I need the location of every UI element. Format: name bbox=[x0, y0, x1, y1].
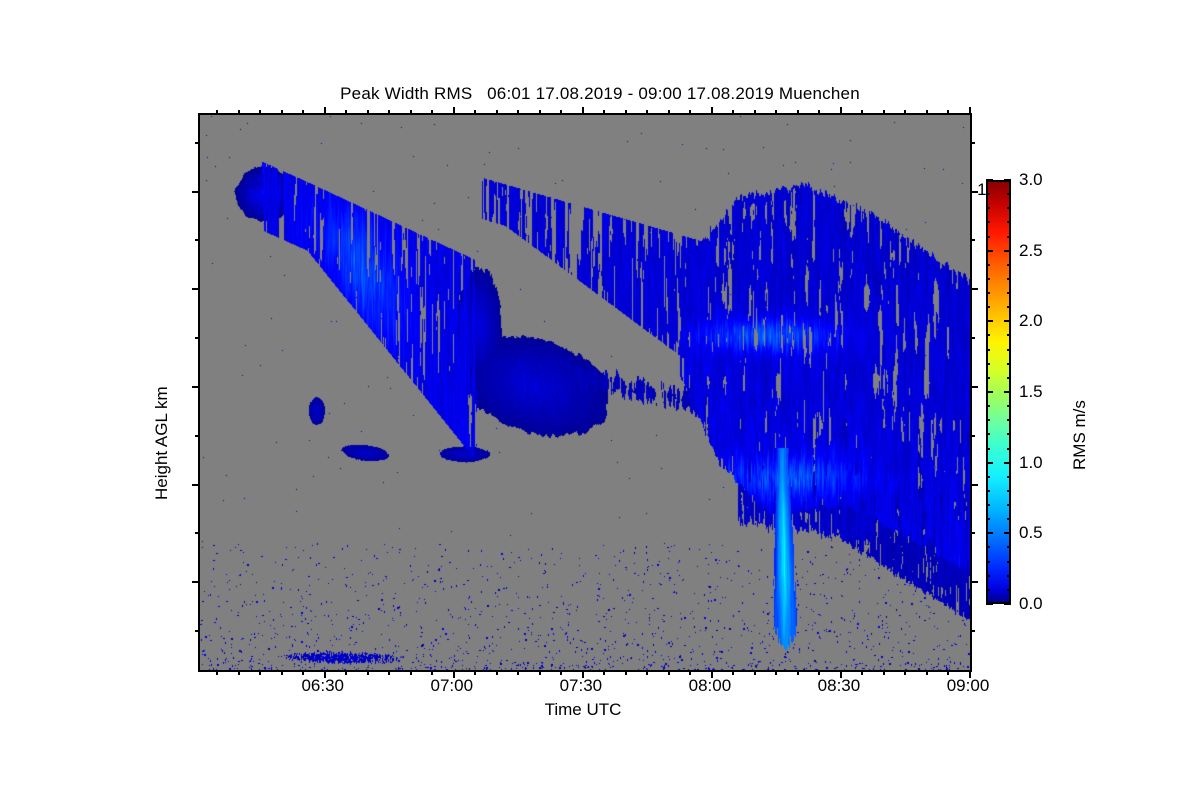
colorbar-tick bbox=[986, 462, 993, 464]
colorbar-tick bbox=[1007, 589, 1011, 591]
colorbar-tick bbox=[1007, 490, 1011, 492]
colorbar-tick bbox=[986, 405, 990, 407]
axis-tick bbox=[388, 110, 390, 115]
axis-tick bbox=[195, 435, 200, 437]
axis-tick bbox=[603, 670, 605, 675]
colorbar-tick-label: 1.5 bbox=[1019, 382, 1043, 402]
axis-tick bbox=[668, 670, 670, 675]
axis-tick bbox=[775, 670, 777, 675]
colorbar-tick bbox=[1007, 476, 1011, 478]
colorbar-tick bbox=[1007, 264, 1011, 266]
axis-tick bbox=[302, 670, 304, 675]
x-tick-label: 08:00 bbox=[689, 676, 732, 696]
colorbar-tick bbox=[1004, 462, 1011, 464]
colorbar-tick bbox=[1007, 518, 1011, 520]
colorbar-tick bbox=[986, 419, 990, 421]
page-title: Peak Width RMS 06:01 17.08.2019 - 09:00 … bbox=[0, 84, 1200, 104]
axis-tick bbox=[646, 110, 648, 115]
axis-tick bbox=[195, 630, 200, 632]
heatmap-data-canvas bbox=[200, 115, 970, 670]
colorbar-tick bbox=[986, 377, 990, 379]
colorbar-tick bbox=[986, 391, 993, 393]
colorbar-tick bbox=[1007, 575, 1011, 577]
axis-tick bbox=[192, 581, 200, 583]
x-tick-label: 08:30 bbox=[818, 676, 861, 696]
x-tick-label: 09:00 bbox=[947, 676, 990, 696]
axis-tick bbox=[367, 110, 369, 115]
axis-tick bbox=[970, 435, 975, 437]
colorbar-tick bbox=[1007, 448, 1011, 450]
axis-tick bbox=[539, 670, 541, 675]
colorbar-tick-label: 2.5 bbox=[1019, 241, 1043, 261]
axis-tick bbox=[302, 110, 304, 115]
colorbar-tick bbox=[1004, 250, 1011, 252]
colorbar-tick bbox=[986, 546, 990, 548]
axis-tick bbox=[797, 670, 799, 675]
axis-tick bbox=[560, 670, 562, 675]
colorbar-tick bbox=[986, 490, 990, 492]
axis-tick bbox=[625, 670, 627, 675]
colorbar-tick bbox=[986, 589, 990, 591]
colorbar-tick bbox=[986, 179, 993, 181]
axis-tick bbox=[281, 670, 283, 675]
colorbar-tick bbox=[1007, 405, 1011, 407]
colorbar-tick bbox=[986, 504, 990, 506]
axis-tick bbox=[926, 670, 928, 675]
colorbar-tick bbox=[986, 363, 990, 365]
colorbar-tick bbox=[986, 250, 993, 252]
axis-tick bbox=[216, 110, 218, 115]
axis-tick bbox=[883, 670, 885, 675]
axis-tick bbox=[818, 670, 820, 675]
colorbar-tick bbox=[986, 603, 993, 605]
colorbar-tick bbox=[986, 292, 990, 294]
axis-tick bbox=[603, 110, 605, 115]
axis-tick bbox=[238, 670, 240, 675]
colorbar-tick-label: 0.5 bbox=[1019, 523, 1043, 543]
colorbar-tick bbox=[986, 221, 990, 223]
axis-tick bbox=[732, 110, 734, 115]
axis-tick bbox=[192, 386, 200, 388]
axis-tick bbox=[970, 337, 975, 339]
x-tick-label: 07:30 bbox=[560, 676, 603, 696]
colorbar-tick bbox=[1007, 419, 1011, 421]
axis-tick bbox=[797, 110, 799, 115]
colorbar-tick bbox=[1004, 179, 1011, 181]
colorbar-tick bbox=[1007, 377, 1011, 379]
colorbar-tick-label: 2.0 bbox=[1019, 311, 1043, 331]
axis-tick bbox=[195, 239, 200, 241]
colorbar-tick bbox=[1004, 603, 1011, 605]
colorbar bbox=[986, 180, 1011, 604]
axis-tick bbox=[195, 142, 200, 144]
axis-tick bbox=[861, 670, 863, 675]
axis-tick bbox=[947, 670, 949, 675]
axis-tick bbox=[496, 110, 498, 115]
axis-tick bbox=[281, 110, 283, 115]
colorbar-tick bbox=[1007, 306, 1011, 308]
axis-tick bbox=[970, 142, 975, 144]
colorbar-tick bbox=[986, 320, 993, 322]
colorbar-tick bbox=[986, 349, 990, 351]
axis-tick bbox=[474, 110, 476, 115]
axis-tick bbox=[732, 670, 734, 675]
axis-tick bbox=[238, 110, 240, 115]
colorbar-tick bbox=[1004, 532, 1011, 534]
colorbar-tick bbox=[986, 264, 990, 266]
axis-tick bbox=[970, 581, 978, 583]
axis-tick bbox=[431, 670, 433, 675]
x-tick-label: 07:00 bbox=[431, 676, 474, 696]
colorbar-tick bbox=[1007, 221, 1011, 223]
axis-tick bbox=[625, 110, 627, 115]
axis-tick bbox=[711, 107, 713, 115]
axis-tick bbox=[345, 110, 347, 115]
axis-tick bbox=[904, 110, 906, 115]
axis-tick bbox=[970, 484, 978, 486]
colorbar-tick bbox=[1007, 363, 1011, 365]
colorbar-tick bbox=[986, 207, 990, 209]
axis-tick bbox=[969, 107, 971, 115]
axis-tick bbox=[410, 110, 412, 115]
colorbar-tick bbox=[986, 334, 990, 336]
plot-figure: Peak Width RMS 06:01 17.08.2019 - 09:00 … bbox=[0, 0, 1200, 800]
axis-tick bbox=[970, 532, 975, 534]
axis-tick bbox=[367, 670, 369, 675]
colorbar-tick bbox=[1007, 504, 1011, 506]
axis-tick bbox=[947, 110, 949, 115]
colorbar-tick bbox=[986, 448, 990, 450]
axis-tick bbox=[689, 670, 691, 675]
axis-tick bbox=[410, 670, 412, 675]
colorbar-tick-label: 3.0 bbox=[1019, 170, 1043, 190]
axis-tick bbox=[689, 110, 691, 115]
axis-tick bbox=[539, 110, 541, 115]
x-axis-label: Time UTC bbox=[198, 700, 968, 720]
axis-tick bbox=[754, 110, 756, 115]
axis-tick bbox=[560, 110, 562, 115]
colorbar-tick bbox=[986, 433, 990, 435]
axis-tick bbox=[840, 107, 842, 115]
axis-tick bbox=[496, 670, 498, 675]
colorbar-tick bbox=[1004, 320, 1011, 322]
axis-tick bbox=[517, 110, 519, 115]
axis-tick bbox=[431, 110, 433, 115]
plot-axes-area bbox=[198, 113, 972, 672]
axis-tick bbox=[775, 110, 777, 115]
axis-tick bbox=[195, 532, 200, 534]
colorbar-tick bbox=[1007, 561, 1011, 563]
colorbar-tick-label: 0.0 bbox=[1019, 594, 1043, 614]
colorbar-tick bbox=[986, 306, 990, 308]
colorbar-tick bbox=[1007, 278, 1011, 280]
colorbar-tick bbox=[986, 575, 990, 577]
axis-tick bbox=[192, 484, 200, 486]
axis-tick bbox=[883, 110, 885, 115]
axis-tick bbox=[195, 337, 200, 339]
axis-tick bbox=[861, 110, 863, 115]
colorbar-tick bbox=[986, 532, 993, 534]
y-axis-label: Height AGL km bbox=[152, 386, 172, 500]
colorbar-tick bbox=[1007, 349, 1011, 351]
axis-tick bbox=[192, 288, 200, 290]
colorbar-tick bbox=[1007, 292, 1011, 294]
axis-tick bbox=[970, 288, 978, 290]
axis-tick bbox=[926, 110, 928, 115]
colorbar-tick bbox=[1007, 334, 1011, 336]
colorbar-tick bbox=[986, 278, 990, 280]
colorbar-tick bbox=[1007, 236, 1011, 238]
axis-tick bbox=[582, 107, 584, 115]
colorbar-axis-label: RMS m/s bbox=[1070, 400, 1090, 470]
colorbar-tick bbox=[1007, 193, 1011, 195]
axis-tick bbox=[324, 107, 326, 115]
colorbar-tick bbox=[986, 561, 990, 563]
axis-tick bbox=[668, 110, 670, 115]
axis-tick bbox=[474, 670, 476, 675]
axis-tick bbox=[192, 191, 200, 193]
axis-tick bbox=[646, 670, 648, 675]
axis-tick bbox=[970, 239, 975, 241]
colorbar-tick bbox=[1004, 391, 1011, 393]
axis-tick bbox=[453, 107, 455, 115]
colorbar-tick-label: 1.0 bbox=[1019, 453, 1043, 473]
axis-tick bbox=[904, 670, 906, 675]
axis-tick bbox=[259, 110, 261, 115]
axis-tick bbox=[259, 670, 261, 675]
axis-tick bbox=[818, 110, 820, 115]
axis-tick bbox=[345, 670, 347, 675]
colorbar-tick bbox=[986, 193, 990, 195]
axis-tick bbox=[970, 386, 978, 388]
axis-tick bbox=[388, 670, 390, 675]
colorbar-tick bbox=[1007, 546, 1011, 548]
axis-tick bbox=[754, 670, 756, 675]
axis-tick bbox=[216, 670, 218, 675]
colorbar-tick bbox=[986, 518, 990, 520]
x-tick-label: 06:30 bbox=[301, 676, 344, 696]
colorbar-tick bbox=[1007, 207, 1011, 209]
colorbar-tick bbox=[986, 476, 990, 478]
axis-tick bbox=[517, 670, 519, 675]
colorbar-tick bbox=[986, 236, 990, 238]
axis-tick bbox=[970, 630, 975, 632]
colorbar-tick bbox=[1007, 433, 1011, 435]
